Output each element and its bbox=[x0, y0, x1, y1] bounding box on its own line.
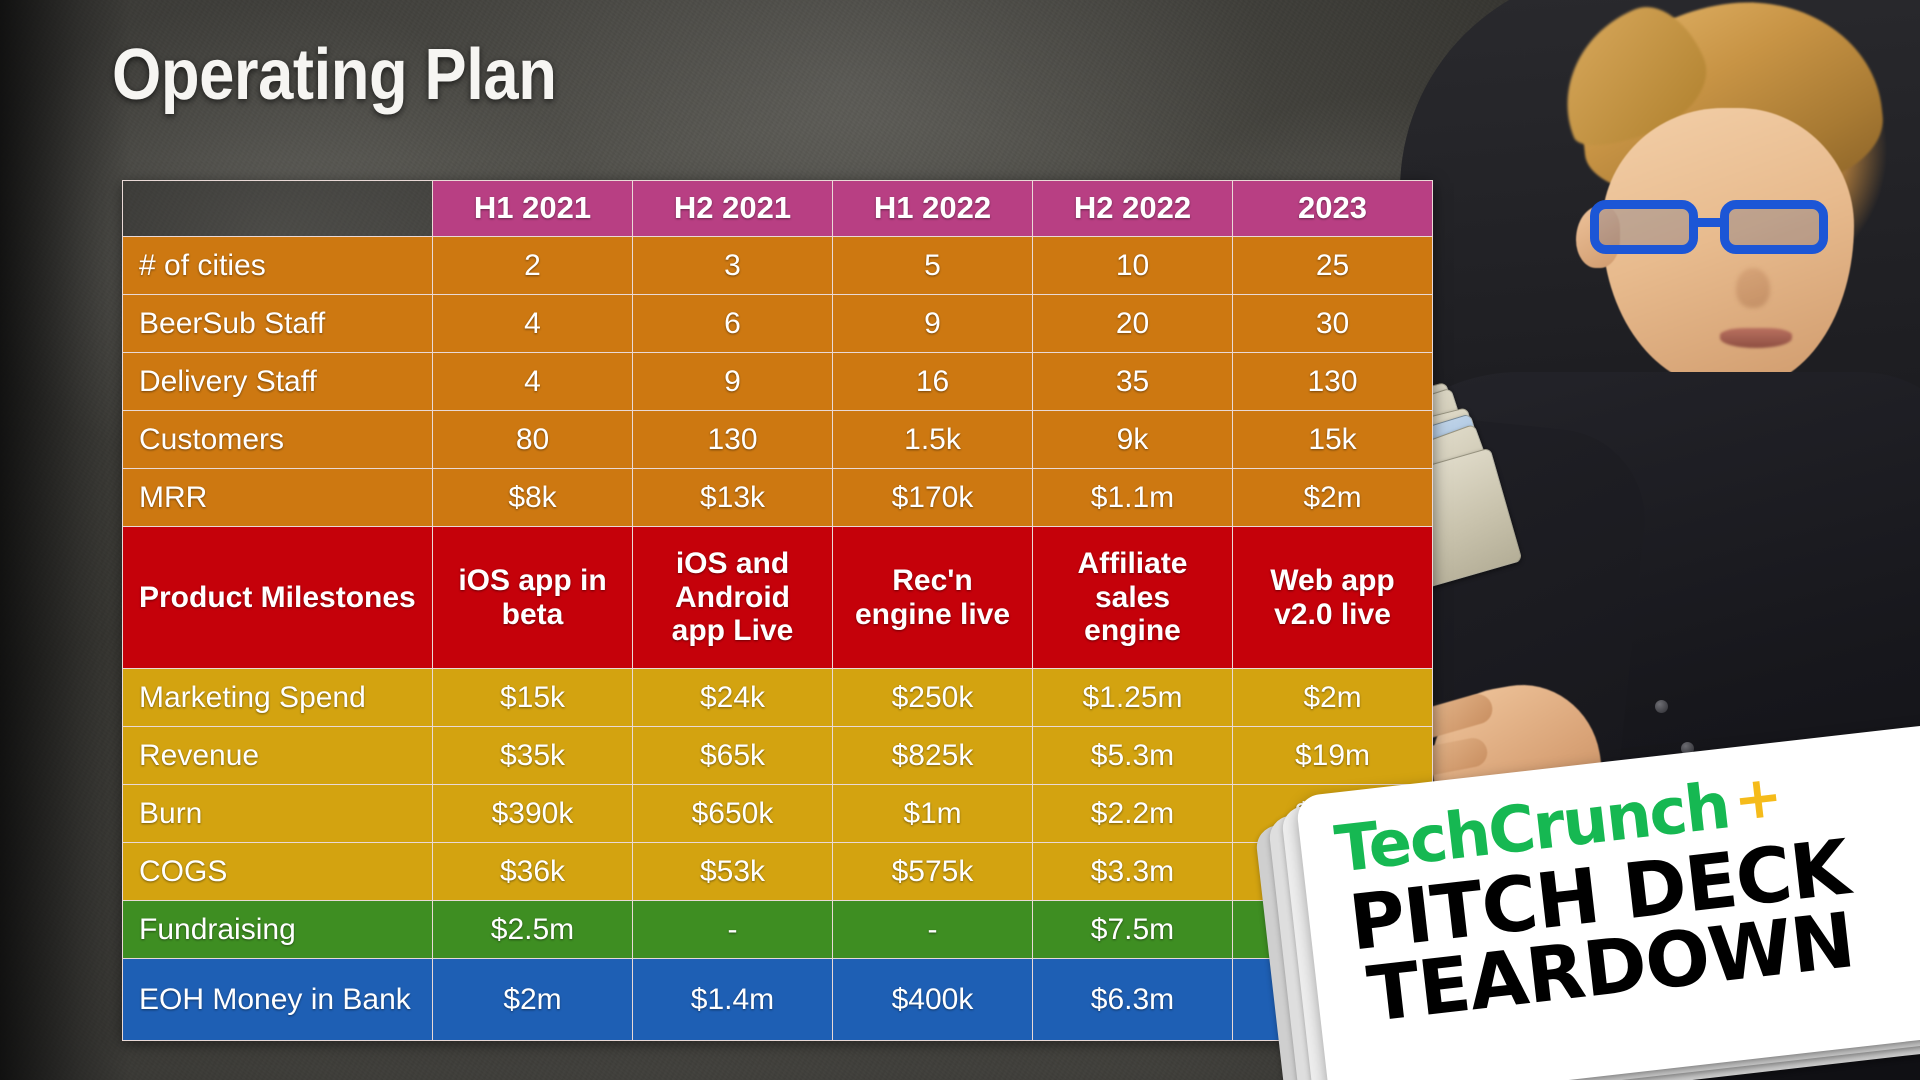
table-cell: 6 bbox=[633, 295, 833, 353]
table-cell: - bbox=[633, 901, 833, 959]
table-cell: 30 bbox=[1233, 295, 1433, 353]
table-cell: $650k bbox=[633, 785, 833, 843]
table-row: BeerSub Staff4692030 bbox=[123, 295, 1433, 353]
photo-glasses bbox=[1590, 196, 1858, 258]
row-label: Delivery Staff bbox=[123, 353, 433, 411]
table-cell: Rec'n engine live bbox=[833, 527, 1033, 669]
table-cell: 15k bbox=[1233, 411, 1433, 469]
table-cell: 4 bbox=[433, 353, 633, 411]
table-cell: $3.3m bbox=[1033, 843, 1233, 901]
table-row: MRR$8k$13k$170k$1.1m$2m bbox=[123, 469, 1433, 527]
table-cell: $825k bbox=[833, 727, 1033, 785]
column-header-h1-2022: H1 2022 bbox=[833, 181, 1033, 237]
table-cell: $65k bbox=[633, 727, 833, 785]
plus-icon: + bbox=[1730, 766, 1785, 829]
table-row: # of cities2351025 bbox=[123, 237, 1433, 295]
table-cell: $53k bbox=[633, 843, 833, 901]
table-cell: 9k bbox=[1033, 411, 1233, 469]
table-cell: $6.3m bbox=[1033, 959, 1233, 1041]
row-label: Customers bbox=[123, 411, 433, 469]
table-cell: iOS app in beta bbox=[433, 527, 633, 669]
table-cell: 130 bbox=[633, 411, 833, 469]
table-cell: 10 bbox=[1033, 237, 1233, 295]
table-cell: $7.5m bbox=[1033, 901, 1233, 959]
operating-plan-table: H1 2021 H2 2021 H1 2022 H2 2022 2023 # o… bbox=[122, 180, 1433, 1041]
row-label: Revenue bbox=[123, 727, 433, 785]
table-cell: $250k bbox=[833, 669, 1033, 727]
table-cell: $2m bbox=[1233, 669, 1433, 727]
table-cell: $400k bbox=[833, 959, 1033, 1041]
table-cell: $2.2m bbox=[1033, 785, 1233, 843]
table-cell: 9 bbox=[633, 353, 833, 411]
table-cell: 16 bbox=[833, 353, 1033, 411]
table-row: Delivery Staff491635130 bbox=[123, 353, 1433, 411]
table-cell: $2.5m bbox=[433, 901, 633, 959]
slide-canvas: 1000 Operating Plan H1 2021 H2 2021 H1 2… bbox=[0, 0, 1920, 1080]
table-cell: $5.3m bbox=[1033, 727, 1233, 785]
photo-nose bbox=[1736, 268, 1770, 308]
table-header-row: H1 2021 H2 2021 H1 2022 H2 2022 2023 bbox=[123, 181, 1433, 237]
table-cell: $13k bbox=[633, 469, 833, 527]
table-header: H1 2021 H2 2021 H1 2022 H2 2022 2023 bbox=[123, 181, 1433, 237]
table-cell: Web app v2.0 live bbox=[1233, 527, 1433, 669]
row-label: Fundraising bbox=[123, 901, 433, 959]
page-title: Operating Plan bbox=[112, 34, 556, 116]
table-corner-cell bbox=[123, 181, 433, 237]
table-cell: - bbox=[833, 901, 1033, 959]
table-cell: $390k bbox=[433, 785, 633, 843]
operating-plan-table-wrapper: H1 2021 H2 2021 H1 2022 H2 2022 2023 # o… bbox=[122, 180, 1432, 1041]
row-label: Marketing Spend bbox=[123, 669, 433, 727]
row-label: MRR bbox=[123, 469, 433, 527]
row-label: EOH Money in Bank bbox=[123, 959, 433, 1041]
table-row: EOH Money in Bank$2m$1.4m$400k$6.3m bbox=[123, 959, 1433, 1041]
photo-glasses-lens-left bbox=[1590, 200, 1698, 254]
table-row: Revenue$35k$65k$825k$5.3m$19m bbox=[123, 727, 1433, 785]
column-header-h2-2022: H2 2022 bbox=[1033, 181, 1233, 237]
table-cell: $1m bbox=[833, 785, 1033, 843]
table-cell: 4 bbox=[433, 295, 633, 353]
table-cell: $15k bbox=[433, 669, 633, 727]
column-header-h1-2021: H1 2021 bbox=[433, 181, 633, 237]
column-header-h2-2021: H2 2021 bbox=[633, 181, 833, 237]
table-cell: $35k bbox=[433, 727, 633, 785]
table-cell: $2m bbox=[433, 959, 633, 1041]
table-cell: $1.1m bbox=[1033, 469, 1233, 527]
table-row: Burn$390k$650k$1m$2.2m$10m bbox=[123, 785, 1433, 843]
background-left-shadow bbox=[0, 0, 130, 1080]
table-row: Customers801301.5k9k15k bbox=[123, 411, 1433, 469]
table-cell: $170k bbox=[833, 469, 1033, 527]
table-cell: $8k bbox=[433, 469, 633, 527]
table-row: Fundraising$2.5m--$7.5m bbox=[123, 901, 1433, 959]
table-row: Product MilestonesiOS app in betaiOS and… bbox=[123, 527, 1433, 669]
table-cell: $24k bbox=[633, 669, 833, 727]
photo-mouth bbox=[1720, 328, 1792, 348]
photo-glasses-lens-right bbox=[1720, 200, 1828, 254]
table-cell: 35 bbox=[1033, 353, 1233, 411]
row-label: Burn bbox=[123, 785, 433, 843]
table-row: COGS$36k$53k$575k$3.3m bbox=[123, 843, 1433, 901]
table-cell: $1.25m bbox=[1033, 669, 1233, 727]
column-header-2023: 2023 bbox=[1233, 181, 1433, 237]
table-body: # of cities2351025BeerSub Staff4692030De… bbox=[123, 237, 1433, 1041]
row-label: BeerSub Staff bbox=[123, 295, 433, 353]
row-label: # of cities bbox=[123, 237, 433, 295]
table-cell: Affiliate sales engine bbox=[1033, 527, 1233, 669]
photo-button-1 bbox=[1655, 700, 1668, 713]
table-cell: $19m bbox=[1233, 727, 1433, 785]
row-label: COGS bbox=[123, 843, 433, 901]
table-cell: 20 bbox=[1033, 295, 1233, 353]
table-cell: 3 bbox=[633, 237, 833, 295]
table-cell: 2 bbox=[433, 237, 633, 295]
table-cell: iOS and Android app Live bbox=[633, 527, 833, 669]
table-cell: $1.4m bbox=[633, 959, 833, 1041]
table-cell: $2m bbox=[1233, 469, 1433, 527]
table-cell: 9 bbox=[833, 295, 1033, 353]
row-label: Product Milestones bbox=[123, 527, 433, 669]
table-cell: $575k bbox=[833, 843, 1033, 901]
table-cell: 25 bbox=[1233, 237, 1433, 295]
table-cell: $36k bbox=[433, 843, 633, 901]
table-cell: 130 bbox=[1233, 353, 1433, 411]
table-cell: 1.5k bbox=[833, 411, 1033, 469]
table-cell: 5 bbox=[833, 237, 1033, 295]
table-row: Marketing Spend$15k$24k$250k$1.25m$2m bbox=[123, 669, 1433, 727]
table-cell: 80 bbox=[433, 411, 633, 469]
